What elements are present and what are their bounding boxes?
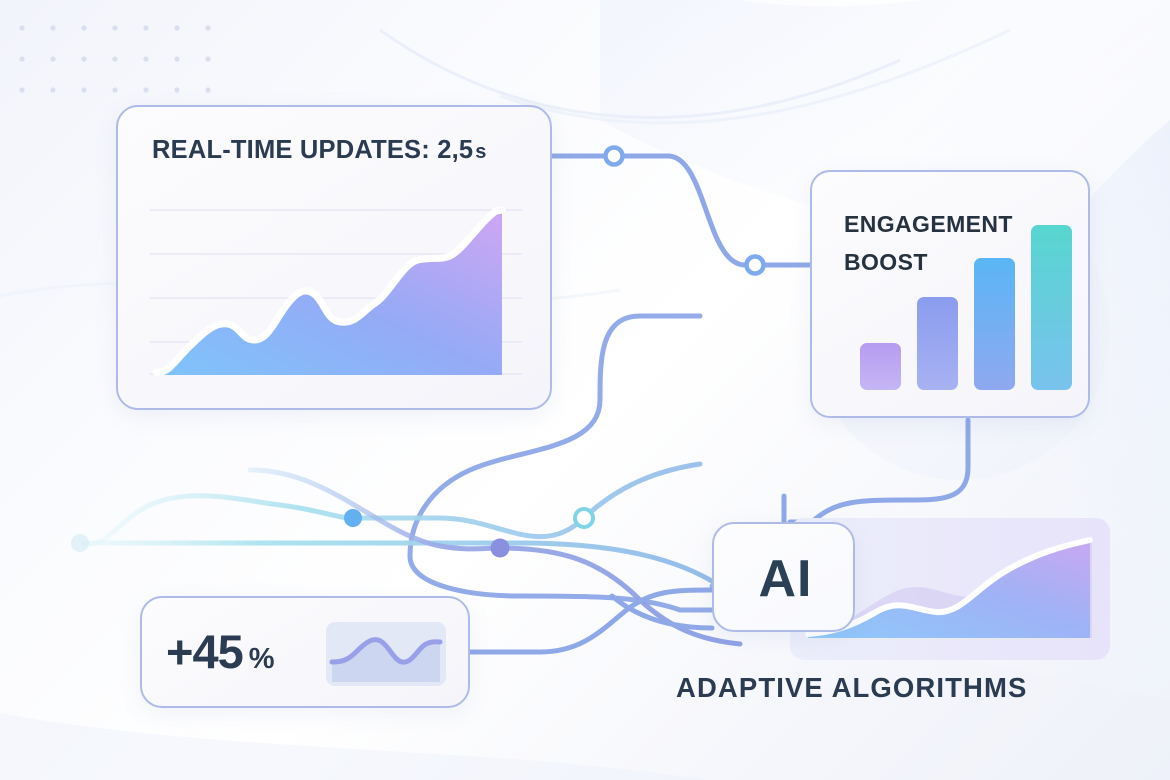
metric-value: +45% <box>166 624 275 679</box>
node-engagement-in <box>747 257 764 274</box>
bar-2 <box>917 297 958 390</box>
node-flow-blue <box>344 509 362 527</box>
edge-flow-cyan-lower <box>84 543 720 586</box>
adaptive-algorithms-caption: ADAPTIVE ALGORITHMS <box>676 672 1027 704</box>
metric-sparkline-tile <box>326 622 446 686</box>
bar-1 <box>860 343 901 390</box>
real-time-updates-card[interactable]: REAL-TIME UPDATES: 2,5s <box>116 105 552 410</box>
edge-engagement-to-ai <box>790 420 968 522</box>
realtime-area-chart <box>150 202 522 387</box>
bar-3 <box>974 258 1015 390</box>
engagement-bar-chart <box>860 225 1074 390</box>
edge-realtime-to-engagement <box>552 156 812 265</box>
infographic-canvas: REAL-TIME UPDATES: 2,5s EN <box>0 0 1170 780</box>
metric-unit: % <box>249 643 275 675</box>
ai-node-label: AI <box>714 524 857 634</box>
node-flow-purple <box>491 539 510 558</box>
metric-card[interactable]: +45% <box>140 596 470 708</box>
unit-seconds: s <box>475 141 486 163</box>
bar-4 <box>1031 225 1072 390</box>
metric-sparkline <box>326 622 446 686</box>
engagement-boost-card[interactable]: ENGAGEMENT BOOST <box>810 170 1090 418</box>
real-time-updates-title: REAL-TIME UPDATES: 2,5s <box>152 136 487 165</box>
metric-number: +45 <box>166 625 243 678</box>
node-realtime-out <box>606 148 623 165</box>
ai-node[interactable]: AI <box>712 522 855 632</box>
node-flow-ring <box>575 509 593 527</box>
node-flow-origin <box>71 534 89 552</box>
realtime-series-fill <box>156 210 502 375</box>
edge-flow-cyan-upper <box>84 464 700 545</box>
